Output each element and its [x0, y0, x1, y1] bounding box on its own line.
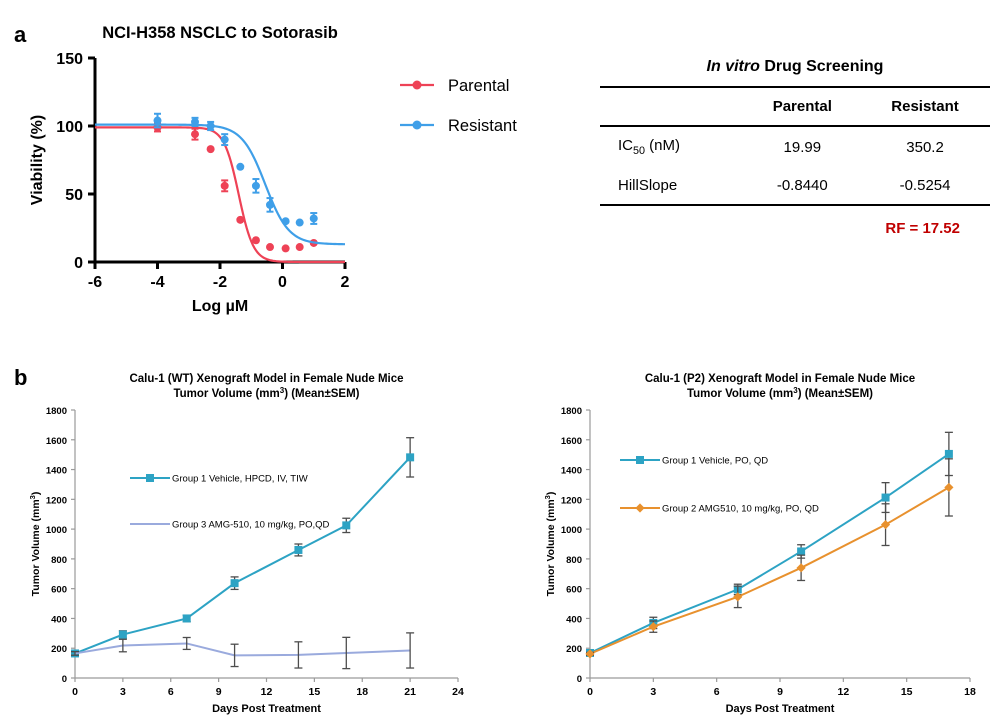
x-tick-label: 24	[452, 686, 464, 698]
dose-response-title: NCI-H358 NSCLC to Sotorasib	[102, 24, 338, 42]
data-point	[945, 450, 953, 458]
x-tick-label: 2	[341, 274, 350, 291]
y-tick-label: 150	[56, 51, 83, 68]
y-tick-label: 1800	[561, 406, 582, 417]
data-point	[231, 579, 239, 587]
hillslope-parental-value: -0.8440	[745, 167, 861, 205]
hillslope-resistant-value: -0.5254	[860, 167, 990, 205]
y-tick-label: 800	[51, 555, 67, 566]
data-point	[119, 631, 127, 639]
chart-title-line2: Tumor Volume (mm3) (Mean±SEM)	[687, 386, 873, 401]
x-tick-label: 18	[964, 686, 976, 698]
y-tick-label: 400	[51, 614, 67, 625]
data-point	[191, 118, 199, 126]
data-point	[282, 244, 290, 252]
data-point	[294, 546, 302, 554]
data-point	[252, 182, 260, 190]
data-point	[797, 563, 806, 572]
legend-marker	[413, 121, 422, 130]
table-col-parental: Parental	[745, 87, 861, 126]
data-point	[207, 122, 215, 130]
data-point	[881, 520, 890, 529]
data-point	[191, 130, 199, 138]
data-point	[310, 214, 318, 222]
x-tick-label: 15	[309, 686, 321, 698]
data-point	[266, 201, 274, 209]
table-title: In vitro Drug Screening	[600, 58, 990, 76]
ic50-main: IC	[618, 137, 633, 154]
x-axis-label: Log µM	[192, 298, 248, 315]
x-tick-label: 21	[404, 686, 416, 698]
data-point	[282, 217, 290, 225]
y-tick-label: 400	[566, 614, 582, 625]
data-point	[236, 163, 244, 171]
y-tick-label: 600	[51, 585, 67, 596]
data-point	[797, 547, 805, 555]
series-line	[75, 643, 410, 655]
y-tick-label: 1400	[46, 466, 67, 477]
x-tick-label: 0	[72, 686, 78, 698]
ic50-sub: 50	[633, 145, 645, 157]
x-tick-label: 0	[587, 686, 593, 698]
legend-marker	[146, 474, 154, 482]
table-title-italic: In vitro	[707, 58, 760, 75]
y-tick-label: 1800	[46, 406, 67, 417]
y-tick-label: 1200	[46, 495, 67, 506]
y-tick-label: 600	[566, 585, 582, 596]
chart-title-line2: Tumor Volume (mm3) (Mean±SEM)	[173, 386, 359, 401]
x-tick-label: 3	[650, 686, 656, 698]
table-col-blank	[600, 87, 745, 126]
y-tick-label: 1600	[46, 436, 67, 447]
calu1-p2-xenograft-chart: Calu-1 (P2) Xenograft Model in Female Nu…	[510, 360, 1000, 725]
data-point	[221, 182, 229, 190]
in-vitro-drug-screening-table: In vitro Drug Screening Parental Resista…	[600, 58, 990, 237]
x-tick-label: 9	[216, 686, 222, 698]
ic50-tail: (nM)	[645, 137, 680, 154]
data-point	[882, 494, 890, 502]
data-point	[266, 243, 274, 251]
x-tick-label: 15	[901, 686, 913, 698]
legend-label: Group 1 Vehicle, PO, QD	[662, 456, 768, 467]
x-tick-label: 6	[714, 686, 720, 698]
legend-label: Group 1 Vehicle, HPCD, IV, TIW	[172, 474, 308, 485]
x-tick-label: -2	[213, 274, 227, 291]
series-group	[586, 432, 953, 657]
table-col-resistant: Resistant	[860, 87, 990, 126]
row-label-ic50: IC50 (nM)	[600, 126, 745, 167]
y-tick-label: 100	[56, 119, 83, 136]
dose-response-chart: NCI-H358 NSCLC to Sotorasib050100150-6-4…	[0, 0, 580, 320]
ic50-parental-value: 19.99	[745, 126, 861, 167]
y-axis-label: Viability (%)	[29, 115, 46, 205]
legend-label-resistant: Resistant	[448, 117, 517, 135]
x-tick-label: 0	[278, 274, 287, 291]
chart-title-line1: Calu-1 (WT) Xenograft Model in Female Nu…	[129, 373, 403, 385]
data-point	[252, 236, 260, 244]
y-axis-label: Tumor Volume (mm3)	[28, 492, 43, 597]
y-tick-label: 50	[65, 187, 83, 204]
y-tick-label: 0	[62, 674, 67, 685]
x-tick-label: 9	[777, 686, 783, 698]
data-point	[221, 136, 229, 144]
data-point	[296, 219, 304, 227]
y-tick-label: 0	[577, 674, 582, 685]
y-axis-label: Tumor Volume (mm3)	[543, 492, 558, 597]
table-header-row: Parental Resistant	[600, 87, 990, 126]
y-tick-label: 1600	[561, 436, 582, 447]
x-axis-label: Days Post Treatment	[726, 703, 835, 715]
data-point	[406, 453, 414, 461]
row-label-hillslope: HillSlope	[600, 167, 745, 205]
y-tick-label: 800	[566, 555, 582, 566]
y-tick-label: 1400	[561, 466, 582, 477]
y-tick-label: 1000	[46, 525, 67, 536]
data-point	[154, 117, 162, 125]
table-row: HillSlope -0.8440 -0.5254	[600, 167, 990, 205]
y-tick-label: 200	[51, 644, 67, 655]
data-point	[733, 592, 742, 601]
chart-title-line1: Calu-1 (P2) Xenograft Model in Female Nu…	[645, 373, 915, 385]
data-point	[207, 145, 215, 153]
x-tick-label: 12	[837, 686, 849, 698]
legend-marker	[413, 81, 422, 90]
table-row: IC50 (nM) 19.99 350.2	[600, 126, 990, 167]
calu1-wt-xenograft-chart: Calu-1 (WT) Xenograft Model in Female Nu…	[0, 360, 500, 725]
legend-label: Group 3 AMG-510, 10 mg/kg, PO,QD	[172, 520, 329, 531]
x-axis-label: Days Post Treatment	[212, 703, 321, 715]
x-tick-label: 12	[261, 686, 273, 698]
y-tick-label: 0	[74, 255, 83, 272]
resistance-factor-note: RF = 17.52	[600, 220, 990, 237]
x-tick-label: 18	[356, 686, 368, 698]
x-tick-label: -6	[88, 274, 102, 291]
data-point	[342, 521, 350, 529]
data-point	[236, 216, 244, 224]
data-point	[944, 483, 953, 492]
y-tick-label: 200	[566, 644, 582, 655]
y-tick-label: 1200	[561, 495, 582, 506]
fit-curve-resistant	[95, 125, 345, 245]
x-tick-label: -4	[150, 274, 164, 291]
x-tick-label: 3	[120, 686, 126, 698]
series-group	[71, 438, 414, 658]
legend-label: Group 2 AMG510, 10 mg/kg, PO, QD	[662, 504, 819, 515]
series-resistant	[154, 114, 318, 227]
drug-screening-table: Parental Resistant IC50 (nM) 19.99 350.2…	[600, 86, 990, 206]
data-point	[183, 614, 191, 622]
series-line	[75, 457, 410, 653]
legend-marker	[635, 503, 644, 512]
series-line	[590, 454, 949, 653]
y-tick-label: 1000	[561, 525, 582, 536]
x-tick-label: 6	[168, 686, 174, 698]
legend-marker	[636, 456, 644, 464]
table-title-rest: Drug Screening	[760, 58, 884, 75]
ic50-resistant-value: 350.2	[860, 126, 990, 167]
legend-label-parental: Parental	[448, 77, 509, 95]
data-point	[296, 243, 304, 251]
